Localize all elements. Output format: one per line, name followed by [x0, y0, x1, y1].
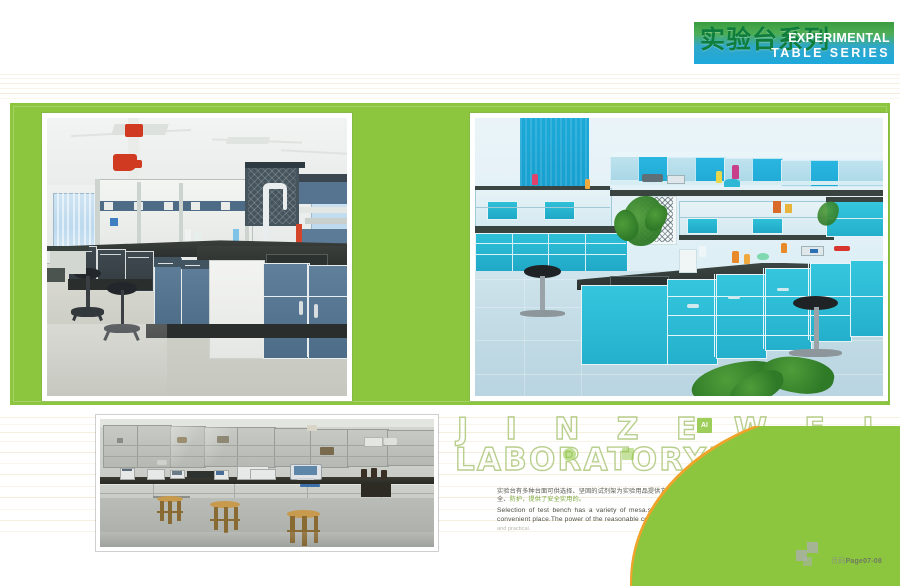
photo-lab-cyan-island-bench: [470, 113, 888, 401]
page-number-label: 页码Page07-08: [831, 556, 882, 568]
wordmark-badge-circle: [563, 448, 576, 461]
description-chinese-green: 防护，提供了安全实用的: [510, 496, 579, 503]
photo-lab-island-bench-blue: [42, 113, 352, 401]
page-number-label-en: Page07-08: [846, 558, 882, 565]
company-logo-icon: [796, 540, 828, 568]
catalog-page: 实验台系列 EXPERIMENTAL TABLE SERIES: [0, 0, 900, 586]
photo-lab-wall-bench-grey: [96, 415, 438, 551]
header-english-line1: EXPERIMENTAL: [788, 31, 890, 45]
page-number-label-cn: 页码: [831, 558, 845, 565]
header-english-line2: TABLE SERIES: [771, 46, 890, 60]
header-banner: 实验台系列 EXPERIMENTAL TABLE SERIES: [694, 22, 894, 64]
description-chinese-tail: 。: [579, 496, 585, 503]
description-chinese-plain: 全、: [497, 496, 510, 503]
page-marker: 页码Page07-08: [796, 540, 882, 568]
corner-decoration: 页码Page07-08: [620, 426, 900, 586]
